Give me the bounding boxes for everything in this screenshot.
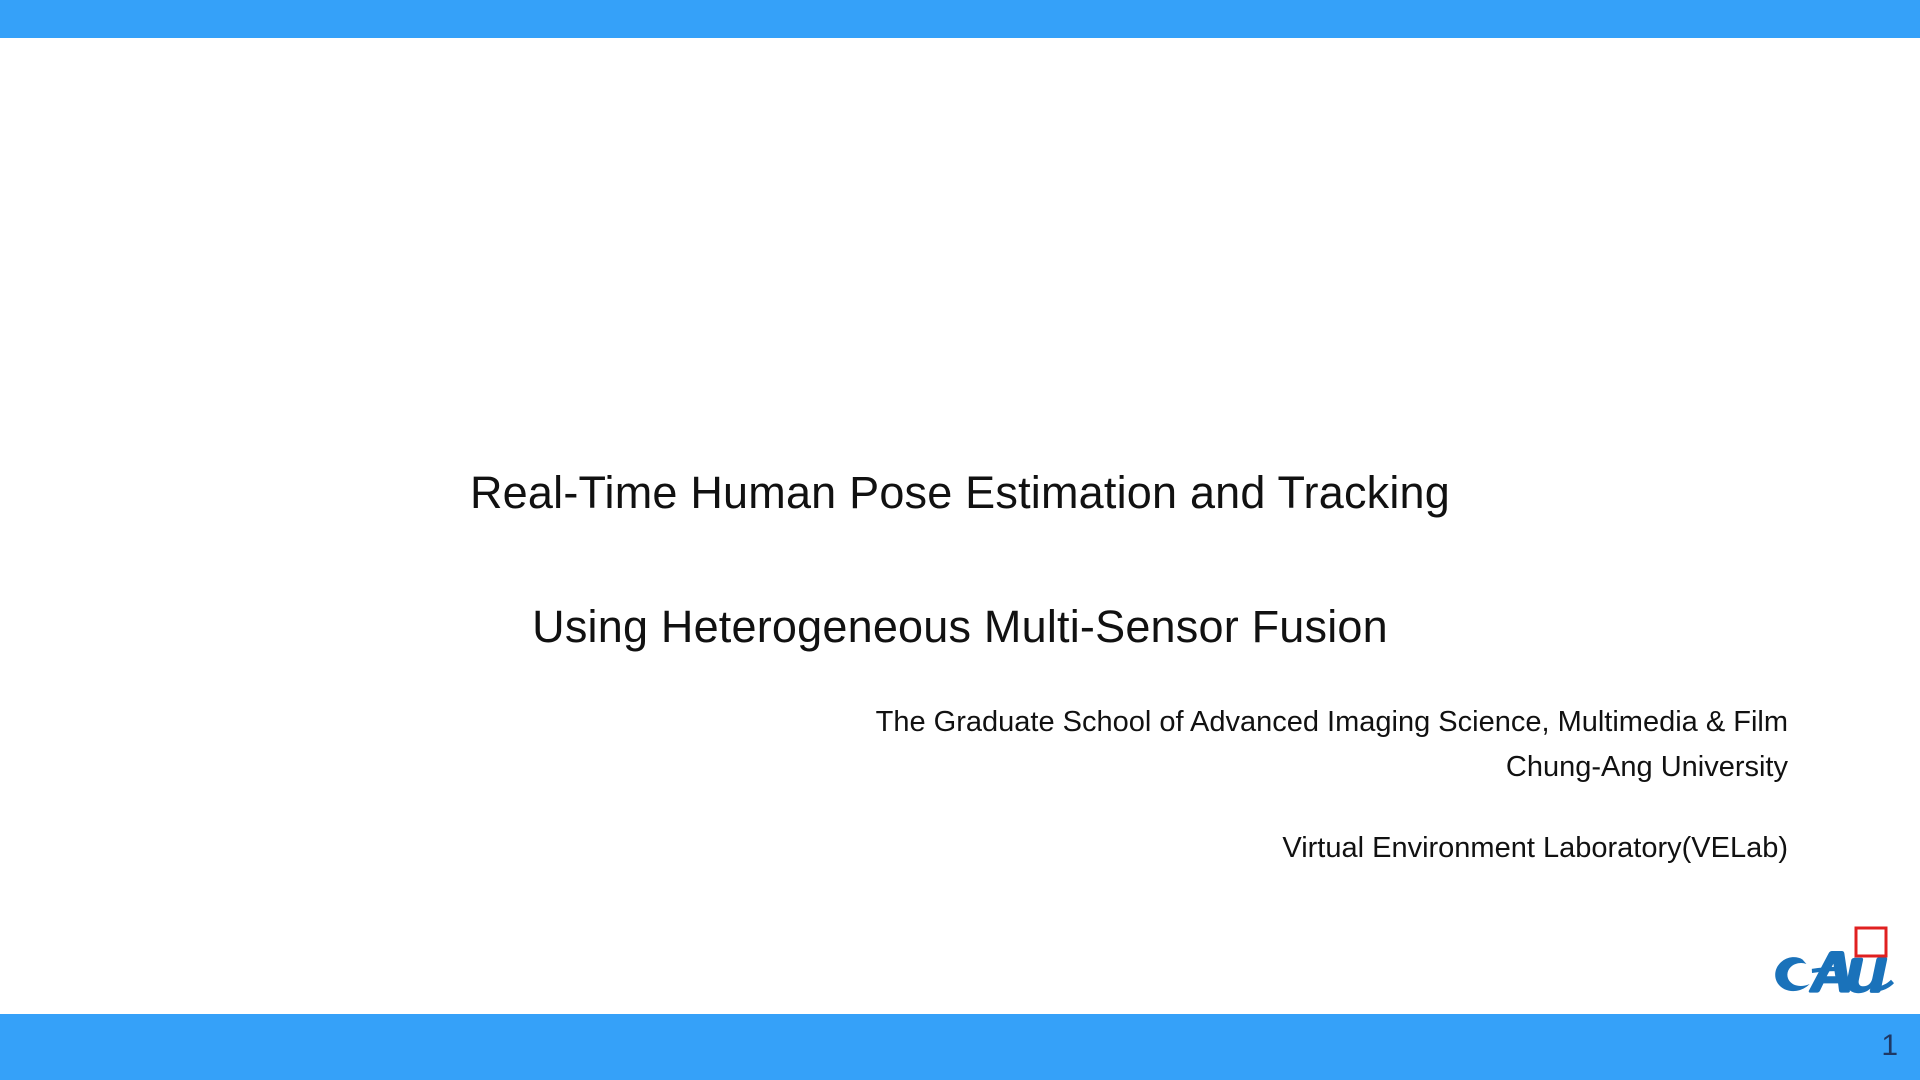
affiliation-line-school: The Graduate School of Advanced Imaging …	[876, 700, 1788, 745]
cau-logo	[1768, 918, 1898, 1014]
title-slide: Real-Time Human Pose Estimation and Trac…	[0, 0, 1920, 1080]
page-number: 1	[1881, 1028, 1898, 1064]
laboratory-line: Virtual Environment Laboratory(VELab)	[1282, 826, 1788, 871]
slide-title: Real-Time Human Pose Estimation and Trac…	[0, 392, 1920, 727]
slide-title-line-2: Using Heterogeneous Multi-Sensor Fusion	[0, 593, 1920, 660]
top-accent-bar	[0, 0, 1920, 38]
bottom-accent-bar	[0, 1014, 1920, 1080]
logo-red-square-accent	[1856, 928, 1886, 956]
slide-title-line-1: Real-Time Human Pose Estimation and Trac…	[0, 459, 1920, 526]
affiliation-line-university: Chung-Ang University	[876, 745, 1788, 790]
cau-logo-icon	[1768, 918, 1898, 1014]
affiliation-block: The Graduate School of Advanced Imaging …	[876, 700, 1788, 790]
